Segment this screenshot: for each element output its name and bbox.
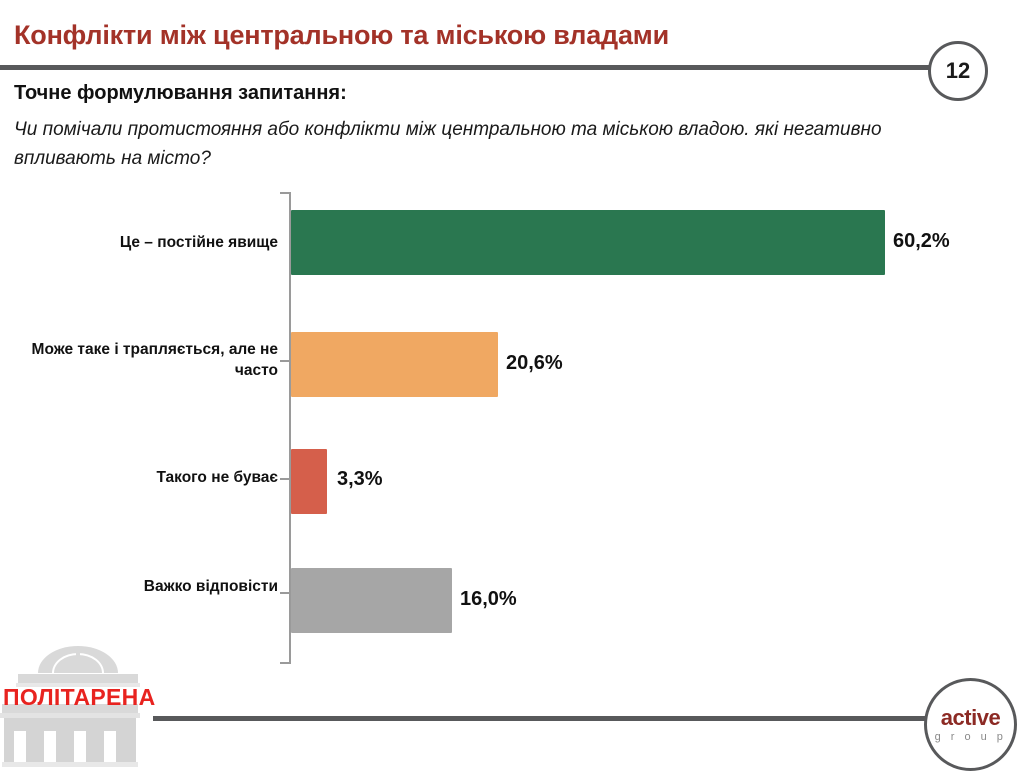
bar-value-label: 3,3% [337, 468, 383, 491]
bar-category-label: Такого не буває [0, 468, 278, 489]
page-title: Конфлікти між центральною та міською вла… [14, 20, 669, 51]
page-number-badge: 12 [928, 41, 988, 101]
bar-value-label: 60,2% [893, 230, 950, 253]
axis-tick [280, 478, 290, 480]
question-body: Чи помічали протистояння або конфлікти м… [14, 115, 944, 174]
question-heading: Точне формулювання запитання: [14, 82, 347, 105]
bar-value-label: 16,0% [460, 588, 517, 611]
axis-tick [280, 360, 290, 362]
footer-divider [153, 716, 936, 721]
politarena-logo-text: ПОЛІТАРЕНА [3, 684, 156, 711]
active-group-secondary-text: g r o u p [927, 731, 1014, 743]
page-number-label: 12 [946, 58, 970, 84]
bar-category-label: Може таке і трапляється, але не часто [0, 340, 278, 382]
bar-segment[interactable] [291, 568, 452, 633]
bar-segment[interactable] [291, 449, 327, 514]
bar-segment[interactable] [291, 332, 498, 397]
bar-segment[interactable] [291, 210, 885, 275]
header-divider [0, 65, 944, 70]
bar-category-label: Це – постійне явище [0, 233, 278, 254]
politarena-logo: ПОЛІТАРЕНА [0, 645, 156, 771]
bar-value-label: 20,6% [506, 352, 563, 375]
active-group-logo: active g r o u p [924, 678, 1017, 771]
axis-tick [280, 192, 290, 194]
bar-chart: Це – постійне явище 60,2% Може таке і тр… [0, 185, 1024, 665]
axis-tick [280, 662, 290, 664]
bar-category-label: Важко відповісти [0, 577, 278, 598]
axis-tick [280, 592, 290, 594]
active-group-primary-text: active [927, 705, 1014, 731]
